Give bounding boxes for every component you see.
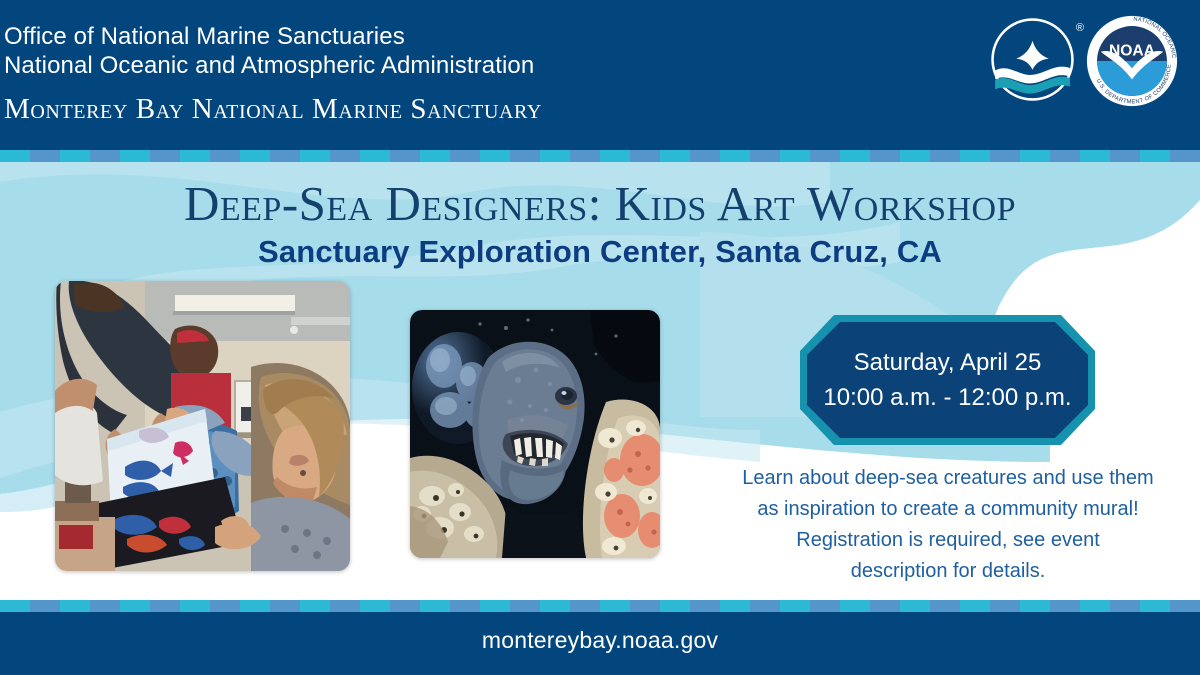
- description-line-4: description for details.: [718, 556, 1178, 587]
- agency-line-2: National Oceanic and Atmospheric Adminis…: [4, 51, 542, 80]
- event-description: Learn about deep-sea creatures and use t…: [718, 463, 1178, 587]
- onms-whale-tail-logo-icon: [990, 17, 1075, 102]
- event-time: 10:00 a.m. - 12:00 p.m.: [823, 380, 1071, 415]
- workshop-photo: [55, 281, 350, 571]
- sanctuary-name: Monterey Bay National Marine Sanctuary: [4, 92, 542, 126]
- wolf-eel-photo: [410, 310, 660, 558]
- checker-stripe-bottom: [0, 600, 1200, 612]
- event-date-badge: Saturday, April 25 10:00 a.m. - 12:00 p.…: [800, 315, 1095, 445]
- description-line-2: as inspiration to create a community mur…: [718, 494, 1178, 525]
- event-title: Deep-Sea Designers: Kids Art Workshop: [0, 175, 1200, 232]
- footer-website-url[interactable]: montereybay.noaa.gov: [0, 627, 1200, 654]
- noaa-seal-logo-icon: NOAA NATIONAL OCEANIC AND ATMOSPHERIC AD…: [1086, 15, 1178, 107]
- checker-stripe-top: [0, 150, 1200, 162]
- agency-identity-block: Office of National Marine Sanctuaries Na…: [4, 22, 542, 126]
- event-date-time-text: Saturday, April 25 10:00 a.m. - 12:00 p.…: [800, 315, 1095, 445]
- event-poster: Office of National Marine Sanctuaries Na…: [0, 0, 1200, 675]
- svg-text:NOAA: NOAA: [1109, 42, 1155, 59]
- event-date: Saturday, April 25: [854, 345, 1042, 380]
- event-location: Sanctuary Exploration Center, Santa Cruz…: [0, 234, 1200, 270]
- registered-trademark-mark: ®: [1076, 22, 1084, 34]
- description-line-3: Registration is required, see event: [718, 525, 1178, 556]
- description-line-1: Learn about deep-sea creatures and use t…: [718, 463, 1178, 494]
- agency-line-1: Office of National Marine Sanctuaries: [4, 22, 542, 51]
